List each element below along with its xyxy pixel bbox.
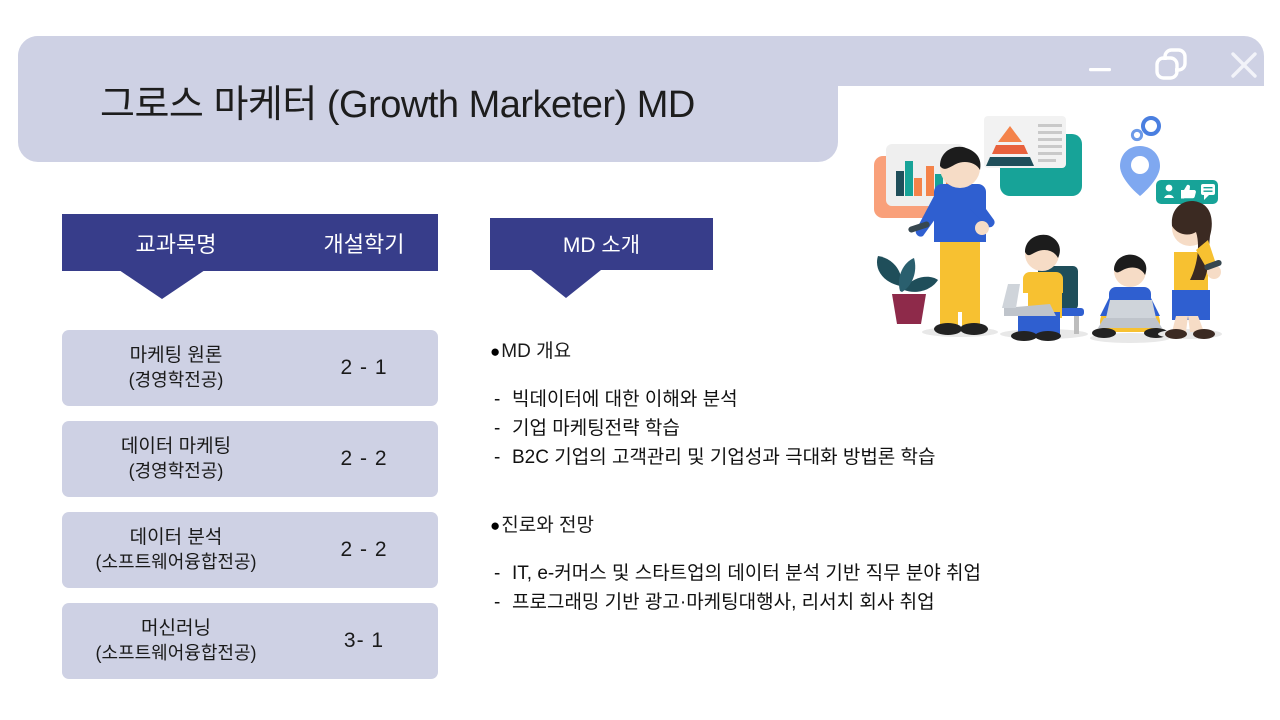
list-item: - B2C 기업의 고객관리 및 기업성과 극대화 방법론 학습 [490, 443, 1190, 472]
list-item-text: IT, e-커머스 및 스타트업의 데이터 분석 기반 직무 분야 취업 [512, 563, 981, 584]
team-data-analytics-illustration [852, 86, 1272, 371]
course-term: 2 - 2 [290, 538, 438, 562]
table-row[interactable]: 마케팅 원론 (경영학전공) 2 - 1 [62, 330, 438, 406]
table-row[interactable]: 머신러닝 (소프트웨어융합전공) 3- 1 [62, 603, 438, 679]
md-intro-body: ● MD 개요 - 빅데이터에 대한 이해와 분석 - 기업 마케팅전략 학습 … [490, 336, 1190, 633]
list-item-text: 프로그래밍 기반 광고·마케팅대행사, 리서치 회사 취업 [512, 592, 935, 613]
column-header-term: 개설학기 [290, 227, 438, 259]
standing-woman-with-phone [1158, 201, 1222, 339]
close-button[interactable] [1222, 43, 1266, 87]
course-department-text: (경영학전공) [62, 368, 290, 393]
gear-icon [1132, 118, 1159, 140]
list-item: - 프로그래밍 기반 광고·마케팅대행사, 리서치 회사 취업 [490, 588, 1190, 617]
dash-marker: - [494, 559, 500, 588]
sitting-man-with-laptop [1090, 255, 1170, 343]
bullet-dot-icon: ● [490, 343, 500, 360]
list-item: - 빅데이터에 대한 이해와 분석 [490, 385, 1190, 414]
course-term: 2 - 2 [290, 447, 438, 471]
minimize-button[interactable] [1078, 43, 1122, 87]
course-term: 2 - 1 [290, 356, 438, 380]
dash-marker: - [494, 588, 500, 617]
column-header-course-name: 교과목명 [62, 227, 290, 259]
md-intro-arrow [531, 270, 601, 298]
course-term: 3- 1 [290, 629, 438, 653]
potted-plant [877, 256, 938, 324]
md-section-heading-text: MD 개요 [501, 336, 571, 363]
course-name: 데이터 마케팅 (경영학전공) [62, 434, 290, 484]
window-controls [1078, 34, 1266, 96]
dash-marker: - [494, 443, 500, 472]
minimize-icon [1083, 48, 1117, 82]
course-department-text: (경영학전공) [62, 459, 290, 484]
md-career-list: - IT, e-커머스 및 스타트업의 데이터 분석 기반 직무 분야 취업 -… [490, 559, 1190, 617]
list-item-text: B2C 기업의 고객관리 및 기업성과 극대화 방법론 학습 [512, 447, 936, 468]
course-table-header: 교과목명 개설학기 [62, 214, 438, 271]
list-item: - IT, e-커머스 및 스타트업의 데이터 분석 기반 직무 분야 취업 [490, 559, 1190, 588]
course-title-text: 데이터 마케팅 [121, 436, 231, 457]
md-overview-list: - 빅데이터에 대한 이해와 분석 - 기업 마케팅전략 학습 - B2C 기업… [490, 385, 1190, 472]
dash-marker: - [494, 385, 500, 414]
md-section-heading: ● 진로와 전망 [490, 510, 1190, 537]
course-title-text: 마케팅 원론 [130, 345, 223, 366]
course-department-text: (소프트웨어융합전공) [62, 550, 290, 575]
md-section-heading-text: 진로와 전망 [501, 510, 594, 537]
page-title: 그로스 마케터 (Growth Marketer) MD [100, 74, 820, 136]
location-pin-icon [1120, 146, 1160, 196]
course-title-text: 머신러닝 [141, 618, 211, 639]
course-department-text: (소프트웨어융합전공) [62, 641, 290, 666]
close-icon [1224, 45, 1264, 85]
table-row[interactable]: 데이터 분석 (소프트웨어융합전공) 2 - 2 [62, 512, 438, 588]
list-item-text: 빅데이터에 대한 이해와 분석 [512, 389, 738, 410]
md-intro-tab: MD 소개 [490, 218, 713, 270]
md-intro-tab-label: MD 소개 [563, 229, 640, 259]
social-badge [1156, 180, 1218, 204]
table-row[interactable]: 데이터 마케팅 (경영학전공) 2 - 2 [62, 421, 438, 497]
dash-marker: - [494, 414, 500, 443]
course-name: 머신러닝 (소프트웨어융합전공) [62, 616, 290, 666]
md-section-career: ● 진로와 전망 - IT, e-커머스 및 스타트업의 데이터 분석 기반 직… [490, 510, 1190, 617]
course-name: 데이터 분석 (소프트웨어융합전공) [62, 525, 290, 575]
list-item: - 기업 마케팅전략 학습 [490, 414, 1190, 443]
bullet-dot-icon: ● [490, 517, 500, 534]
course-title-text: 데이터 분석 [130, 527, 223, 548]
restore-icon [1152, 45, 1192, 85]
course-name: 마케팅 원론 (경영학전공) [62, 343, 290, 393]
list-item-text: 기업 마케팅전략 학습 [512, 418, 680, 439]
restore-button[interactable] [1150, 43, 1194, 87]
course-table-arrow [119, 270, 205, 299]
seated-woman-with-laptop [1000, 235, 1088, 341]
